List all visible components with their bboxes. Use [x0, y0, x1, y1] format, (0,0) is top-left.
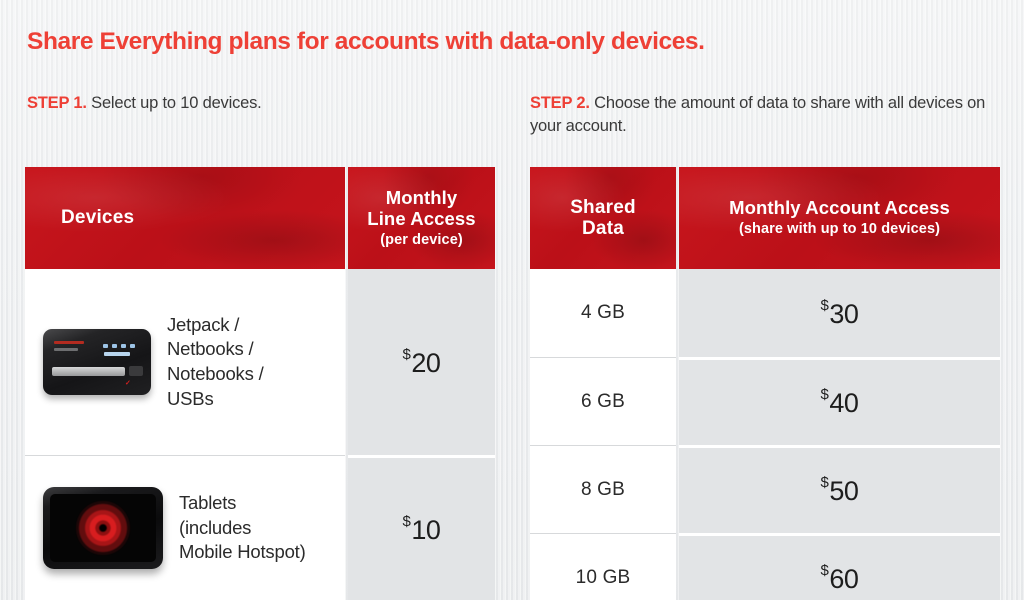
- shared-data-value: 8 GB: [581, 479, 625, 501]
- price-value: 60: [829, 564, 858, 594]
- step-1-instruction: STEP 1. Select up to 10 devices.: [27, 92, 497, 115]
- infographic-page: Share Everything plans for accounts with…: [0, 0, 1024, 600]
- shared-data-value: 10 GB: [576, 567, 631, 589]
- currency-symbol: $: [821, 474, 829, 491]
- shared-data-table: Shared Data Monthly Account Access (shar…: [530, 167, 1000, 600]
- step-1-label: STEP 1.: [27, 94, 87, 112]
- column-header-shared-data: Shared Data: [530, 167, 676, 269]
- device-cell-jetpack: ✓ Jetpack / Netbooks / Notebooks / USBs: [25, 269, 345, 455]
- table-row[interactable]: 4 GB$30: [530, 269, 1000, 357]
- table-row[interactable]: 10 GB$60: [530, 533, 1000, 600]
- shared-data-cell: 10 GB: [530, 533, 676, 600]
- jetpack-device-icon: ✓: [43, 329, 151, 395]
- shared-data-cell: 8 GB: [530, 445, 676, 533]
- shared-data-value: 4 GB: [581, 302, 625, 324]
- tablet-device-icon: [43, 487, 163, 569]
- step-1-text: Select up to 10 devices.: [87, 94, 262, 112]
- device-cell-tablets: Tablets (includes Mobile Hotspot): [25, 455, 345, 600]
- device-label: Tablets (includes Mobile Hotspot): [179, 491, 306, 565]
- currency-symbol: $: [403, 346, 411, 363]
- price-value: 20: [411, 348, 440, 378]
- column-header-devices: Devices: [25, 167, 345, 269]
- column-header-monthly-line-access: Monthly Line Access (per device): [348, 167, 495, 269]
- account-access-price-cell: $60: [679, 533, 1000, 600]
- price-value: 10: [411, 515, 440, 545]
- column-header-monthly-account-access: Monthly Account Access (share with up to…: [679, 167, 1000, 269]
- price-value: 40: [829, 388, 858, 418]
- shared-data-table-body: 4 GB$306 GB$408 GB$5010 GB$60: [530, 269, 1000, 600]
- device-label: Jetpack / Netbooks / Notebooks / USBs: [167, 313, 264, 411]
- table-row[interactable]: 6 GB$40: [530, 357, 1000, 445]
- price-value: 50: [829, 476, 858, 506]
- devices-table-body: ✓ Jetpack / Netbooks / Notebooks / USBs …: [25, 269, 495, 600]
- shared-data-cell: 4 GB: [530, 269, 676, 357]
- shared-data-table-header: Shared Data Monthly Account Access (shar…: [530, 167, 1000, 269]
- currency-symbol: $: [821, 297, 829, 314]
- table-row[interactable]: 8 GB$50: [530, 445, 1000, 533]
- step-2-label: STEP 2.: [530, 94, 590, 112]
- price-cell-tablets: $10: [348, 455, 495, 600]
- shared-data-value: 6 GB: [581, 391, 625, 413]
- price-cell-jetpack: $20: [348, 269, 495, 455]
- account-access-price-cell: $30: [679, 269, 1000, 357]
- devices-table: Devices Monthly Line Access (per device): [25, 167, 495, 600]
- step-2-text: Choose the amount of data to share with …: [530, 94, 985, 135]
- table-row[interactable]: ✓ Jetpack / Netbooks / Notebooks / USBs …: [25, 269, 495, 455]
- currency-symbol: $: [403, 513, 411, 530]
- price-value: 30: [829, 299, 858, 329]
- account-access-price-cell: $50: [679, 445, 1000, 533]
- table-row[interactable]: Tablets (includes Mobile Hotspot) $10: [25, 455, 495, 600]
- page-title: Share Everything plans for accounts with…: [27, 28, 705, 56]
- devices-table-header: Devices Monthly Line Access (per device): [25, 167, 495, 269]
- currency-symbol: $: [821, 562, 829, 579]
- currency-symbol: $: [821, 386, 829, 403]
- step-2-instruction: STEP 2. Choose the amount of data to sha…: [530, 92, 1010, 138]
- account-access-price-cell: $40: [679, 357, 1000, 445]
- shared-data-cell: 6 GB: [530, 357, 676, 445]
